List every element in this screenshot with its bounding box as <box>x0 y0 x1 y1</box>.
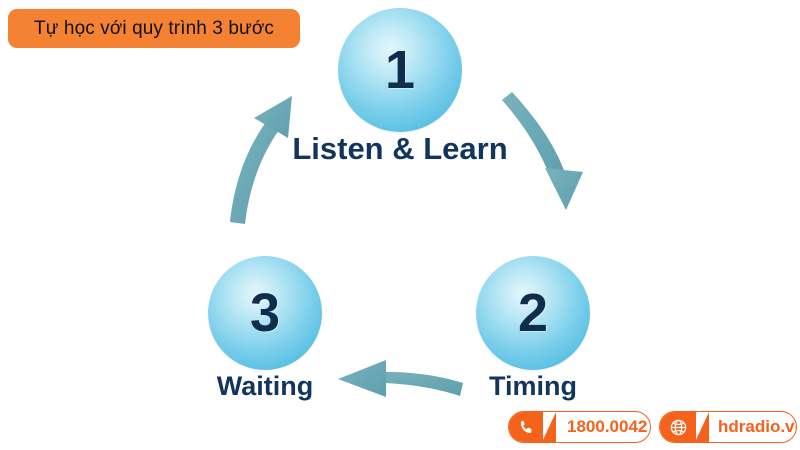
title-banner: Tự học với quy trình 3 bước <box>8 9 300 48</box>
globe-icon <box>660 412 696 442</box>
title-banner-text: Tự học với quy trình 3 bước <box>34 18 274 40</box>
step-circle-1[interactable]: 1 <box>338 8 462 132</box>
step-circle-3[interactable]: 3 <box>208 256 322 370</box>
step-number-1: 1 <box>385 43 415 97</box>
phone-number-text: 1800.0042 <box>567 417 647 437</box>
website-badge[interactable]: hdradio.vn <box>659 411 797 443</box>
arrow-step2-to-step3-icon <box>338 360 463 397</box>
step-number-2: 2 <box>518 286 548 340</box>
step-label-2: Timing <box>458 371 608 402</box>
step-label-3: Waiting <box>190 371 340 402</box>
website-text: hdradio.vn <box>718 417 797 437</box>
step-circle-2[interactable]: 2 <box>476 256 590 370</box>
phone-badge[interactable]: 1800.0042 <box>508 411 651 443</box>
phone-icon <box>509 412 543 442</box>
diagram-canvas: Tự học với quy trình 3 bước 1 Listen & <box>0 0 800 450</box>
step-label-1: Listen & Learn <box>250 131 550 167</box>
step-number-3: 3 <box>250 286 280 340</box>
